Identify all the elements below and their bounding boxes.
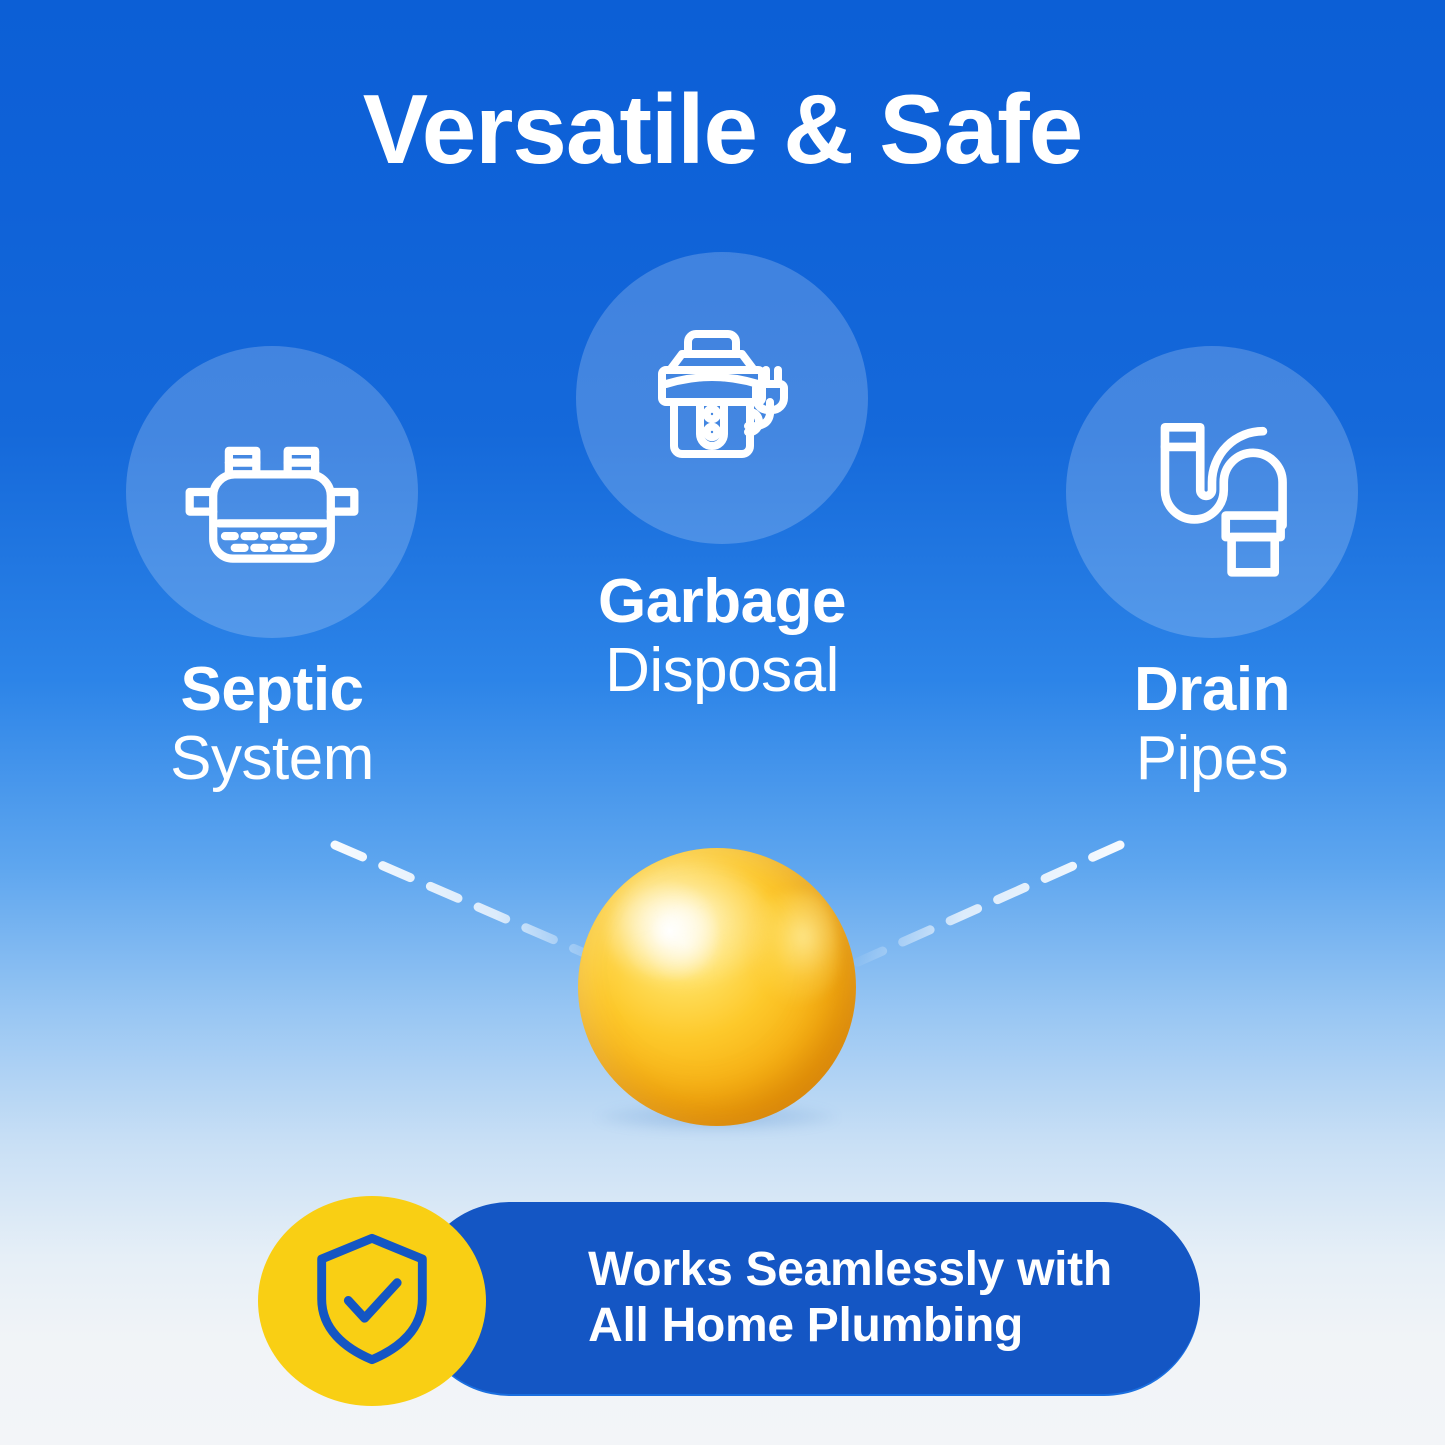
drain-pipe-icon bbox=[1114, 394, 1310, 590]
banner-pill: Works Seamlessly with All Home Plumbing bbox=[414, 1202, 1200, 1394]
feature-label-septic: Septic System bbox=[112, 658, 432, 790]
feature-circle-septic bbox=[126, 346, 418, 638]
feature-label-drain-bold: Drain bbox=[1052, 658, 1372, 721]
infographic-poster: Versatile & Safe bbox=[0, 0, 1445, 1445]
product-sphere-rim bbox=[578, 848, 856, 1126]
banner-line-1: Works Seamlessly with bbox=[588, 1243, 1112, 1296]
feature-label-garbage-bold: Garbage bbox=[562, 570, 882, 633]
feature-label-septic-bold: Septic bbox=[112, 658, 432, 721]
trust-badge bbox=[258, 1196, 486, 1406]
septic-tank-icon bbox=[174, 394, 370, 590]
garbage-disposal-icon bbox=[622, 298, 822, 498]
banner-line-2: All Home Plumbing bbox=[588, 1299, 1023, 1352]
shield-check-icon bbox=[298, 1225, 446, 1378]
feature-circle-garbage-disposal bbox=[576, 252, 868, 544]
feature-label-septic-light: System bbox=[112, 727, 432, 790]
connector-line-drain bbox=[858, 845, 1120, 962]
feature-label-garbage-light: Disposal bbox=[562, 639, 882, 702]
feature-label-drain-light: Pipes bbox=[1052, 727, 1372, 790]
product-gel-pod bbox=[578, 848, 856, 1126]
page-title: Versatile & Safe bbox=[0, 78, 1445, 181]
feature-label-garbage-disposal: Garbage Disposal bbox=[562, 570, 882, 702]
feature-circle-drain-pipes bbox=[1066, 346, 1358, 638]
banner-text: Works Seamlessly with All Home Plumbing bbox=[588, 1242, 1112, 1354]
feature-label-drain-pipes: Drain Pipes bbox=[1052, 658, 1372, 790]
connector-line-septic bbox=[335, 845, 605, 962]
bottom-banner: Works Seamlessly with All Home Plumbing bbox=[258, 1196, 1200, 1406]
